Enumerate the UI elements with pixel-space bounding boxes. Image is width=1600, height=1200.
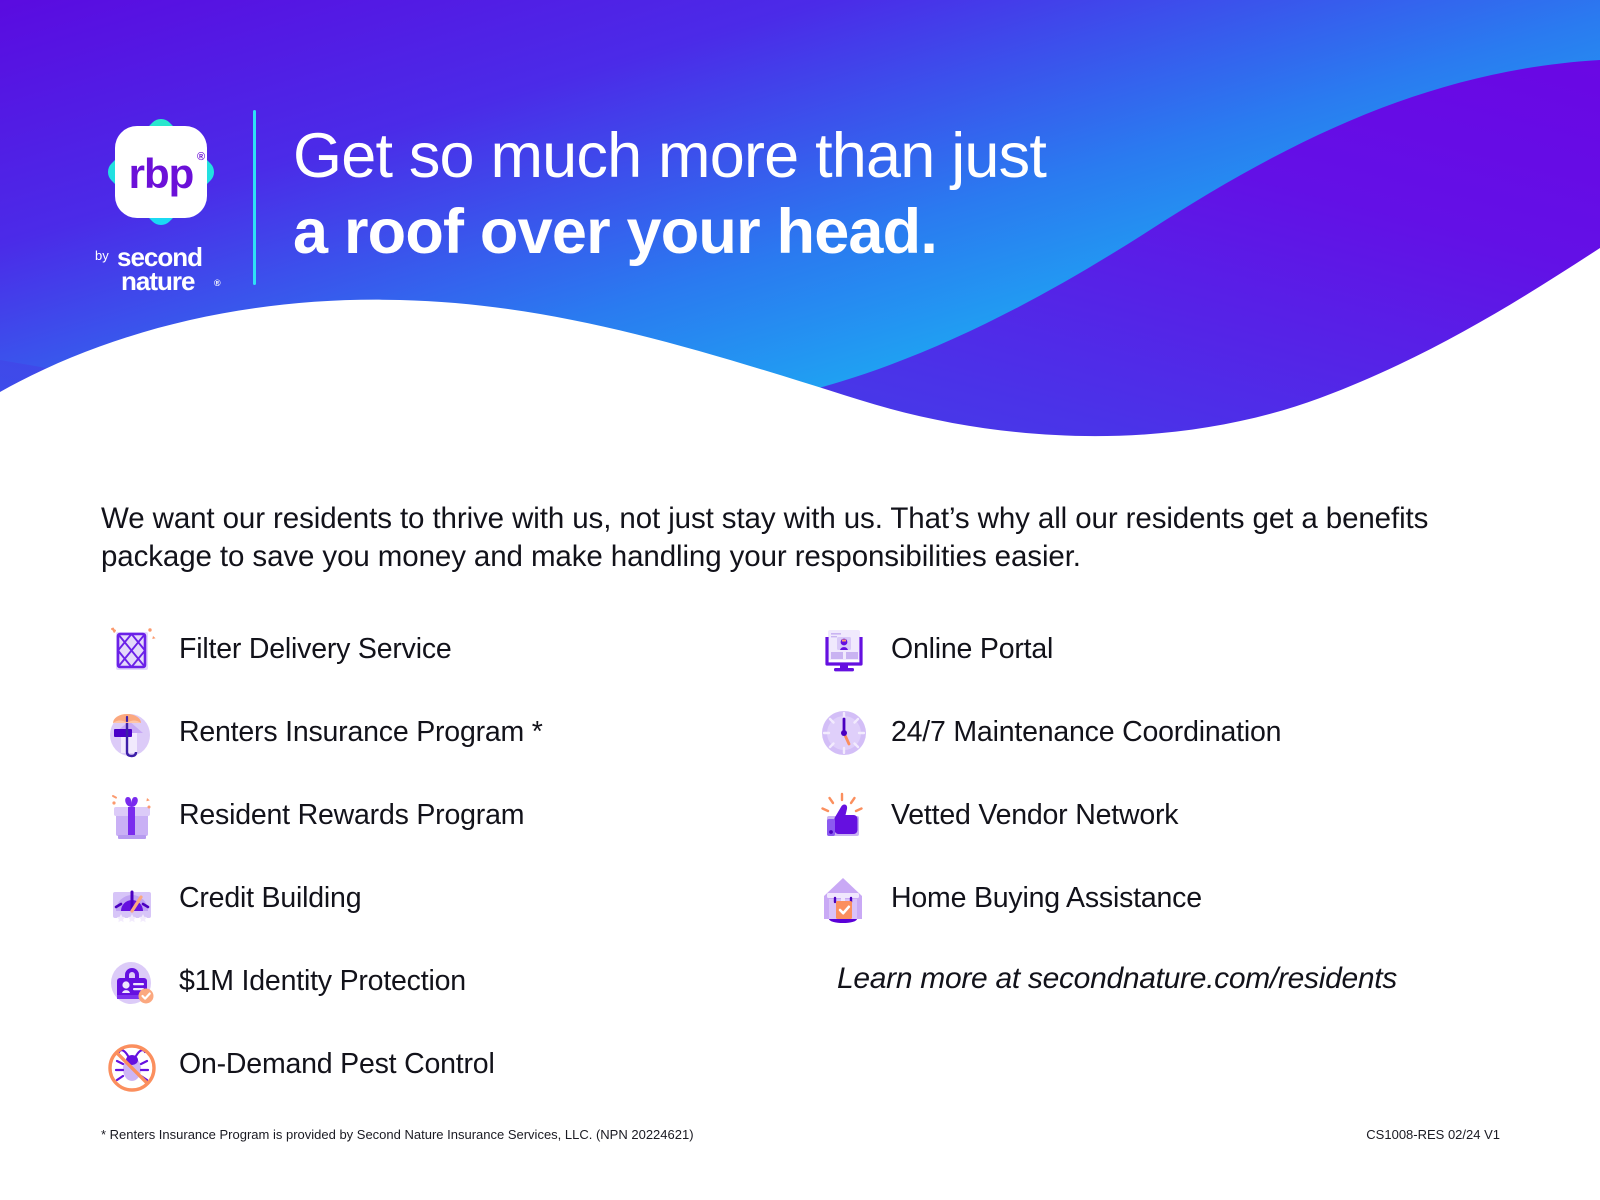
rbp-logo-mark: rbp ® — [97, 108, 225, 236]
headline-line-2: a roof over your head. — [293, 194, 1273, 270]
svg-text:®: ® — [214, 278, 221, 288]
benefits-grid: Filter Delivery Service — [101, 608, 1521, 1106]
monitor-portal-icon — [813, 618, 877, 682]
benefit-label: Credit Building — [179, 882, 361, 915]
benefit-home-buying-assistance: Home Buying Assistance — [813, 857, 1521, 940]
second-nature-logo-icon: by second nature ® — [91, 242, 231, 294]
footer-doc-code: CS1008-RES 02/24 V1 — [1366, 1127, 1500, 1142]
benefit-vetted-vendor-network: Vetted Vendor Network — [813, 774, 1521, 857]
svg-text:by: by — [95, 248, 109, 263]
benefit-label: Resident Rewards Program — [179, 799, 524, 832]
no-pest-icon — [101, 1033, 165, 1097]
headline-line-1: Get so much more than just — [293, 118, 1273, 194]
benefit-filter-delivery-service: Filter Delivery Service — [101, 608, 813, 691]
hero-headline: Get so much more than just a roof over y… — [293, 118, 1273, 270]
benefit-label: 24/7 Maintenance Coordination — [891, 716, 1281, 749]
benefits-column-right: Online Portal — [813, 608, 1521, 1106]
benefit-label: Filter Delivery Service — [179, 633, 452, 666]
benefit-credit-building: Credit Building — [101, 857, 813, 940]
benefit-label: Online Portal — [891, 633, 1053, 666]
learn-more-text[interactable]: Learn more at secondnature.com/residents — [837, 962, 1521, 996]
clock-icon — [813, 701, 877, 765]
air-filter-icon — [101, 618, 165, 682]
second-nature-wordmark: by second nature ® — [88, 242, 233, 294]
rbp-badge-icon: rbp ® — [97, 108, 225, 236]
benefit-online-portal: Online Portal — [813, 608, 1521, 691]
benefit-label: On-Demand Pest Control — [179, 1048, 495, 1081]
hero-banner: rbp ® by second nature ® Get so much mor… — [0, 0, 1600, 470]
marketing-flyer: rbp ® by second nature ® Get so much mor… — [0, 0, 1600, 1200]
svg-text:®: ® — [196, 151, 204, 163]
benefit-resident-rewards-program: Resident Rewards Program — [101, 774, 813, 857]
house-checkmark-icon — [813, 867, 877, 931]
benefit-label: $1M Identity Protection — [179, 965, 466, 998]
benefit-identity-protection: $1M Identity Protection — [101, 940, 813, 1023]
gift-box-icon — [101, 784, 165, 848]
intro-paragraph: We want our residents to thrive with us,… — [101, 500, 1441, 576]
benefit-renters-insurance-program: Renters Insurance Program * — [101, 691, 813, 774]
benefit-maintenance-coordination: 24/7 Maintenance Coordination — [813, 691, 1521, 774]
benefit-pest-control: On-Demand Pest Control — [101, 1023, 813, 1106]
logo-divider — [253, 110, 256, 285]
umbrella-house-icon — [101, 701, 165, 765]
benefit-label: Home Buying Assistance — [891, 882, 1202, 915]
rbp-logo: rbp ® by second nature ® — [88, 108, 233, 288]
benefit-label: Vetted Vendor Network — [891, 799, 1178, 832]
benefit-label: Renters Insurance Program * — [179, 716, 543, 749]
credit-gauge-icon — [101, 867, 165, 931]
svg-text:rbp: rbp — [128, 150, 193, 197]
footer-disclaimer: * Renters Insurance Program is provided … — [101, 1127, 694, 1142]
thumbs-up-icon — [813, 784, 877, 848]
svg-text:nature: nature — [121, 266, 195, 294]
id-card-shield-icon — [101, 950, 165, 1014]
benefits-column-left: Filter Delivery Service — [101, 608, 813, 1106]
